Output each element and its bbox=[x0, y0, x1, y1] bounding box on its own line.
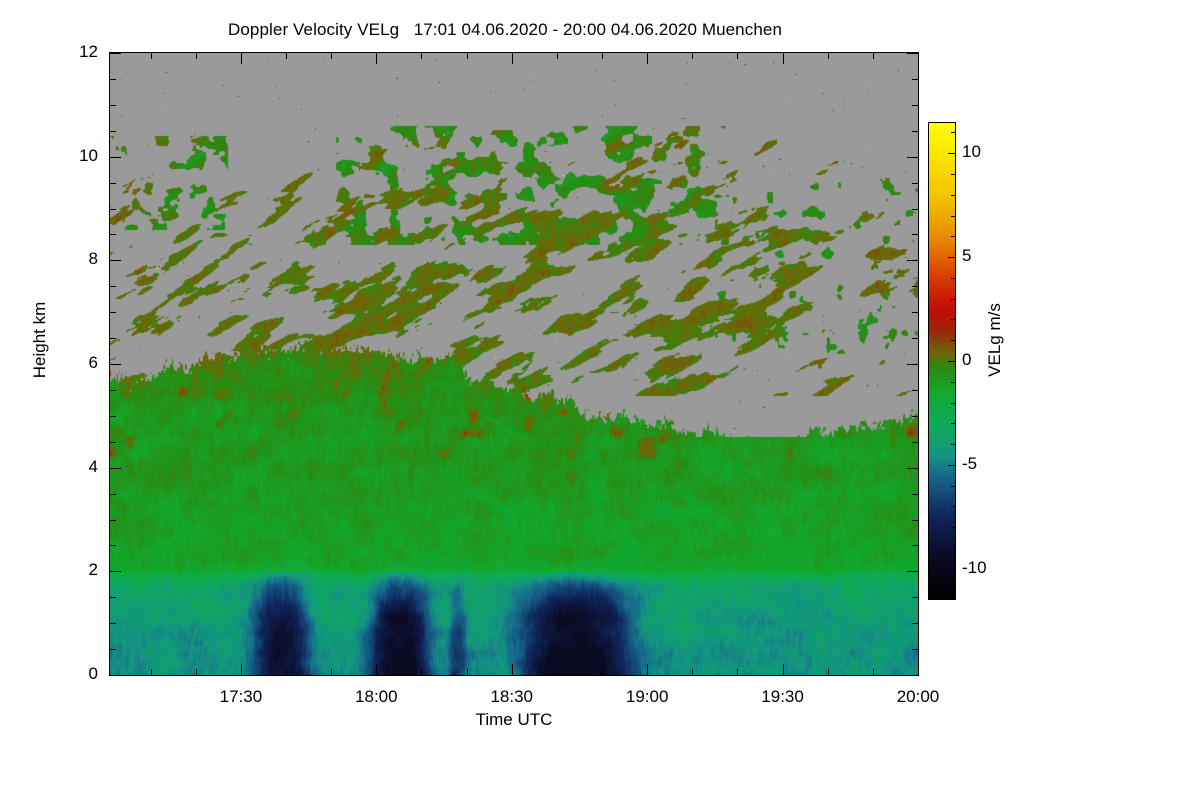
axis-tick bbox=[873, 53, 874, 59]
axis-tick bbox=[951, 444, 956, 445]
axis-tick bbox=[907, 675, 918, 676]
axis-tick bbox=[110, 338, 116, 339]
axis-tick bbox=[241, 664, 242, 675]
axis-tick bbox=[557, 53, 558, 59]
axis-tick bbox=[110, 649, 116, 650]
x-tick-label: 20:00 bbox=[873, 687, 963, 707]
y-tick-label: 0 bbox=[58, 664, 98, 684]
axis-tick bbox=[110, 105, 116, 106]
axis-tick bbox=[557, 669, 558, 675]
axis-tick bbox=[110, 53, 121, 54]
axis-tick bbox=[912, 442, 918, 443]
axis-tick bbox=[948, 361, 956, 362]
axis-tick bbox=[951, 506, 956, 507]
axis-tick bbox=[151, 53, 152, 59]
axis-tick bbox=[912, 520, 918, 521]
axis-tick bbox=[196, 53, 197, 59]
axis-tick bbox=[110, 157, 121, 158]
axis-tick bbox=[828, 53, 829, 59]
axis-tick bbox=[951, 132, 956, 133]
axis-tick bbox=[331, 53, 332, 59]
axis-tick bbox=[110, 183, 116, 184]
axis-tick bbox=[376, 53, 377, 64]
axis-tick bbox=[110, 545, 116, 546]
axis-tick bbox=[951, 527, 956, 528]
x-tick-label: 19:00 bbox=[602, 687, 692, 707]
axis-tick bbox=[110, 494, 116, 495]
axis-tick bbox=[912, 312, 918, 313]
axis-tick bbox=[110, 234, 116, 235]
axis-tick bbox=[110, 286, 116, 287]
axis-tick bbox=[912, 649, 918, 650]
axis-tick bbox=[918, 664, 919, 675]
axis-tick bbox=[692, 53, 693, 59]
axis-tick bbox=[918, 53, 919, 64]
axis-tick bbox=[286, 53, 287, 59]
axis-tick bbox=[948, 153, 956, 154]
x-tick-label: 18:30 bbox=[467, 687, 557, 707]
axis-tick bbox=[110, 260, 121, 261]
axis-tick bbox=[151, 669, 152, 675]
axis-tick bbox=[912, 79, 918, 80]
axis-tick bbox=[110, 364, 121, 365]
axis-tick bbox=[331, 669, 332, 675]
axis-tick bbox=[948, 257, 956, 258]
axis-tick bbox=[907, 53, 918, 54]
axis-tick bbox=[737, 53, 738, 59]
axis-tick bbox=[951, 299, 956, 300]
axis-tick bbox=[951, 486, 956, 487]
y-tick-label: 2 bbox=[58, 560, 98, 580]
axis-tick bbox=[783, 53, 784, 64]
axis-tick bbox=[951, 382, 956, 383]
axis-tick bbox=[951, 319, 956, 320]
axis-tick bbox=[951, 236, 956, 237]
axis-tick bbox=[647, 664, 648, 675]
y-axis-label: Height km bbox=[30, 260, 50, 420]
axis-tick bbox=[912, 105, 918, 106]
axis-tick bbox=[912, 209, 918, 210]
x-tick-label: 18:00 bbox=[331, 687, 421, 707]
axis-tick bbox=[912, 623, 918, 624]
axis-tick bbox=[951, 423, 956, 424]
axis-tick bbox=[907, 571, 918, 572]
axis-tick bbox=[907, 157, 918, 158]
axis-tick bbox=[951, 340, 956, 341]
axis-tick bbox=[912, 286, 918, 287]
axis-tick bbox=[110, 131, 116, 132]
axis-tick bbox=[512, 664, 513, 675]
axis-tick bbox=[783, 664, 784, 675]
axis-tick bbox=[110, 209, 116, 210]
axis-tick bbox=[110, 597, 116, 598]
y-tick-label: 4 bbox=[58, 457, 98, 477]
axis-tick bbox=[512, 53, 513, 64]
x-tick-label: 19:30 bbox=[738, 687, 828, 707]
y-tick-label: 8 bbox=[58, 249, 98, 269]
axis-tick bbox=[951, 216, 956, 217]
axis-tick bbox=[951, 174, 956, 175]
doppler-velocity-chart: Doppler Velocity VELg 17:01 04.06.2020 -… bbox=[0, 0, 1200, 800]
plot-area bbox=[110, 53, 918, 675]
axis-tick bbox=[110, 442, 116, 443]
axis-tick bbox=[421, 53, 422, 59]
axis-tick bbox=[912, 183, 918, 184]
axis-tick bbox=[907, 468, 918, 469]
axis-tick bbox=[951, 548, 956, 549]
axis-tick bbox=[951, 403, 956, 404]
axis-tick bbox=[110, 390, 116, 391]
axis-tick bbox=[286, 669, 287, 675]
y-tick-label: 12 bbox=[58, 42, 98, 62]
x-axis-label: Time UTC bbox=[110, 710, 918, 730]
axis-tick bbox=[467, 53, 468, 59]
axis-tick bbox=[907, 260, 918, 261]
axis-tick bbox=[951, 278, 956, 279]
axis-tick bbox=[376, 664, 377, 675]
axis-tick bbox=[602, 669, 603, 675]
axis-tick bbox=[737, 669, 738, 675]
colorbar-tick-label: -5 bbox=[962, 454, 1022, 474]
axis-tick bbox=[912, 390, 918, 391]
axis-tick bbox=[110, 79, 116, 80]
axis-tick bbox=[110, 623, 116, 624]
axis-tick bbox=[110, 675, 121, 676]
axis-tick bbox=[241, 53, 242, 64]
colorbar-tick-label: 10 bbox=[962, 142, 1022, 162]
axis-tick bbox=[912, 545, 918, 546]
axis-tick bbox=[912, 234, 918, 235]
axis-tick bbox=[912, 494, 918, 495]
axis-tick bbox=[948, 569, 956, 570]
axis-tick bbox=[912, 338, 918, 339]
axis-tick bbox=[110, 416, 116, 417]
axis-tick bbox=[110, 520, 116, 521]
axis-tick bbox=[421, 669, 422, 675]
y-tick-label: 6 bbox=[58, 353, 98, 373]
axis-tick bbox=[828, 669, 829, 675]
axis-tick bbox=[110, 468, 121, 469]
axis-tick bbox=[692, 669, 693, 675]
heatmap-canvas bbox=[110, 53, 918, 675]
axis-tick bbox=[110, 312, 116, 313]
colorbar-label: VELg m/s bbox=[985, 250, 1005, 430]
axis-tick bbox=[873, 669, 874, 675]
axis-tick bbox=[951, 590, 956, 591]
colorbar-tick-label: -10 bbox=[962, 558, 1022, 578]
axis-tick bbox=[110, 571, 121, 572]
y-tick-label: 10 bbox=[58, 146, 98, 166]
axis-tick bbox=[912, 416, 918, 417]
axis-tick bbox=[951, 195, 956, 196]
axis-tick bbox=[467, 669, 468, 675]
axis-tick bbox=[907, 364, 918, 365]
axis-tick bbox=[912, 597, 918, 598]
x-tick-label: 17:30 bbox=[196, 687, 286, 707]
axis-tick bbox=[948, 465, 956, 466]
axis-tick bbox=[912, 131, 918, 132]
axis-tick bbox=[647, 53, 648, 64]
chart-title: Doppler Velocity VELg 17:01 04.06.2020 -… bbox=[0, 20, 1010, 40]
axis-tick bbox=[196, 669, 197, 675]
axis-tick bbox=[602, 53, 603, 59]
